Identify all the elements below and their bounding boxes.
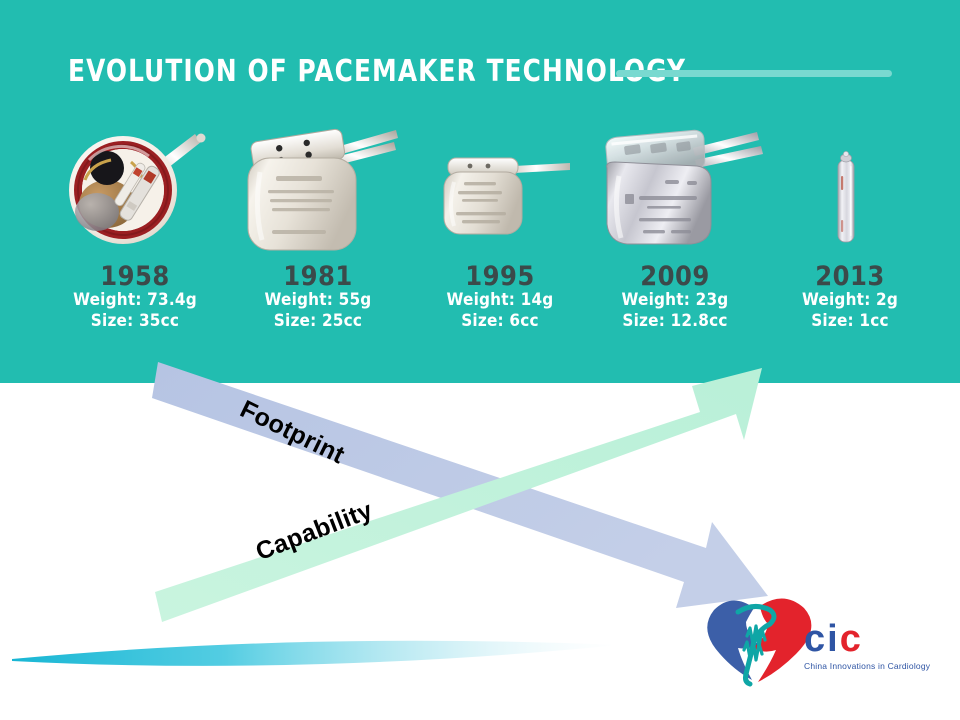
cic-tagline: China Innovations in Cardiology — [804, 661, 930, 671]
page-title: EVOLUTION OF PACEMAKER TECHNOLOGY — [68, 54, 686, 89]
device-weight: Weight: 2g — [760, 290, 940, 311]
cic-letter-i: i — [827, 618, 840, 660]
cyan-swoosh-icon — [12, 641, 620, 666]
cic-letters: cic — [804, 620, 930, 658]
footprint-arrow-icon — [152, 362, 768, 608]
device-size: Size: 1cc — [760, 311, 940, 332]
leadless-capsule-2013-icon — [760, 120, 940, 260]
device-size: Size: 12.8cc — [585, 311, 765, 332]
cic-letter-c1: c — [804, 618, 827, 660]
device-weight: Weight: 73.4g — [45, 290, 225, 311]
device-column-1995: 1995 Weight: 14g Size: 6cc — [410, 120, 590, 333]
device-column-2013: 2013 Weight: 2g Size: 1cc — [760, 120, 940, 333]
cic-logo: cic China Innovations in Cardiology — [692, 588, 932, 688]
device-weight: Weight: 14g — [410, 290, 590, 311]
device-column-2009: 2009 Weight: 23g Size: 12.8cc — [585, 120, 765, 333]
device-weight: Weight: 55g — [228, 290, 408, 311]
capability-arrow-label: Capability — [252, 496, 377, 567]
device-year: 2013 — [760, 263, 940, 290]
cic-wordmark: cic China Innovations in Cardiology — [804, 620, 930, 671]
device-year: 2009 — [585, 263, 765, 290]
device-size: Size: 25cc — [228, 311, 408, 332]
round-pacemaker-1958-icon — [45, 120, 225, 260]
device-year: 1995 — [410, 263, 590, 290]
device-weight: Weight: 23g — [585, 290, 765, 311]
device-year: 1981 — [228, 263, 408, 290]
device-column-1958: 1958 Weight: 73.4g Size: 35cc — [45, 120, 225, 333]
pacemaker-2009-icon — [585, 120, 765, 260]
siemens-pacemaker-1981-icon — [228, 120, 408, 260]
cic-heart-logo-icon — [692, 588, 822, 688]
device-size: Size: 35cc — [45, 311, 225, 332]
device-size: Size: 6cc — [410, 311, 590, 332]
device-year: 1958 — [45, 263, 225, 290]
title-rule — [616, 70, 892, 77]
slide-canvas: EVOLUTION OF PACEMAKER TECHNOLOGY — [0, 0, 960, 720]
footprint-arrow-label: Footprint — [235, 395, 349, 470]
pacemaker-1995-icon — [410, 120, 590, 260]
device-column-1981: 1981 Weight: 55g Size: 25cc — [228, 120, 408, 333]
cic-letter-c2: c — [840, 618, 863, 660]
